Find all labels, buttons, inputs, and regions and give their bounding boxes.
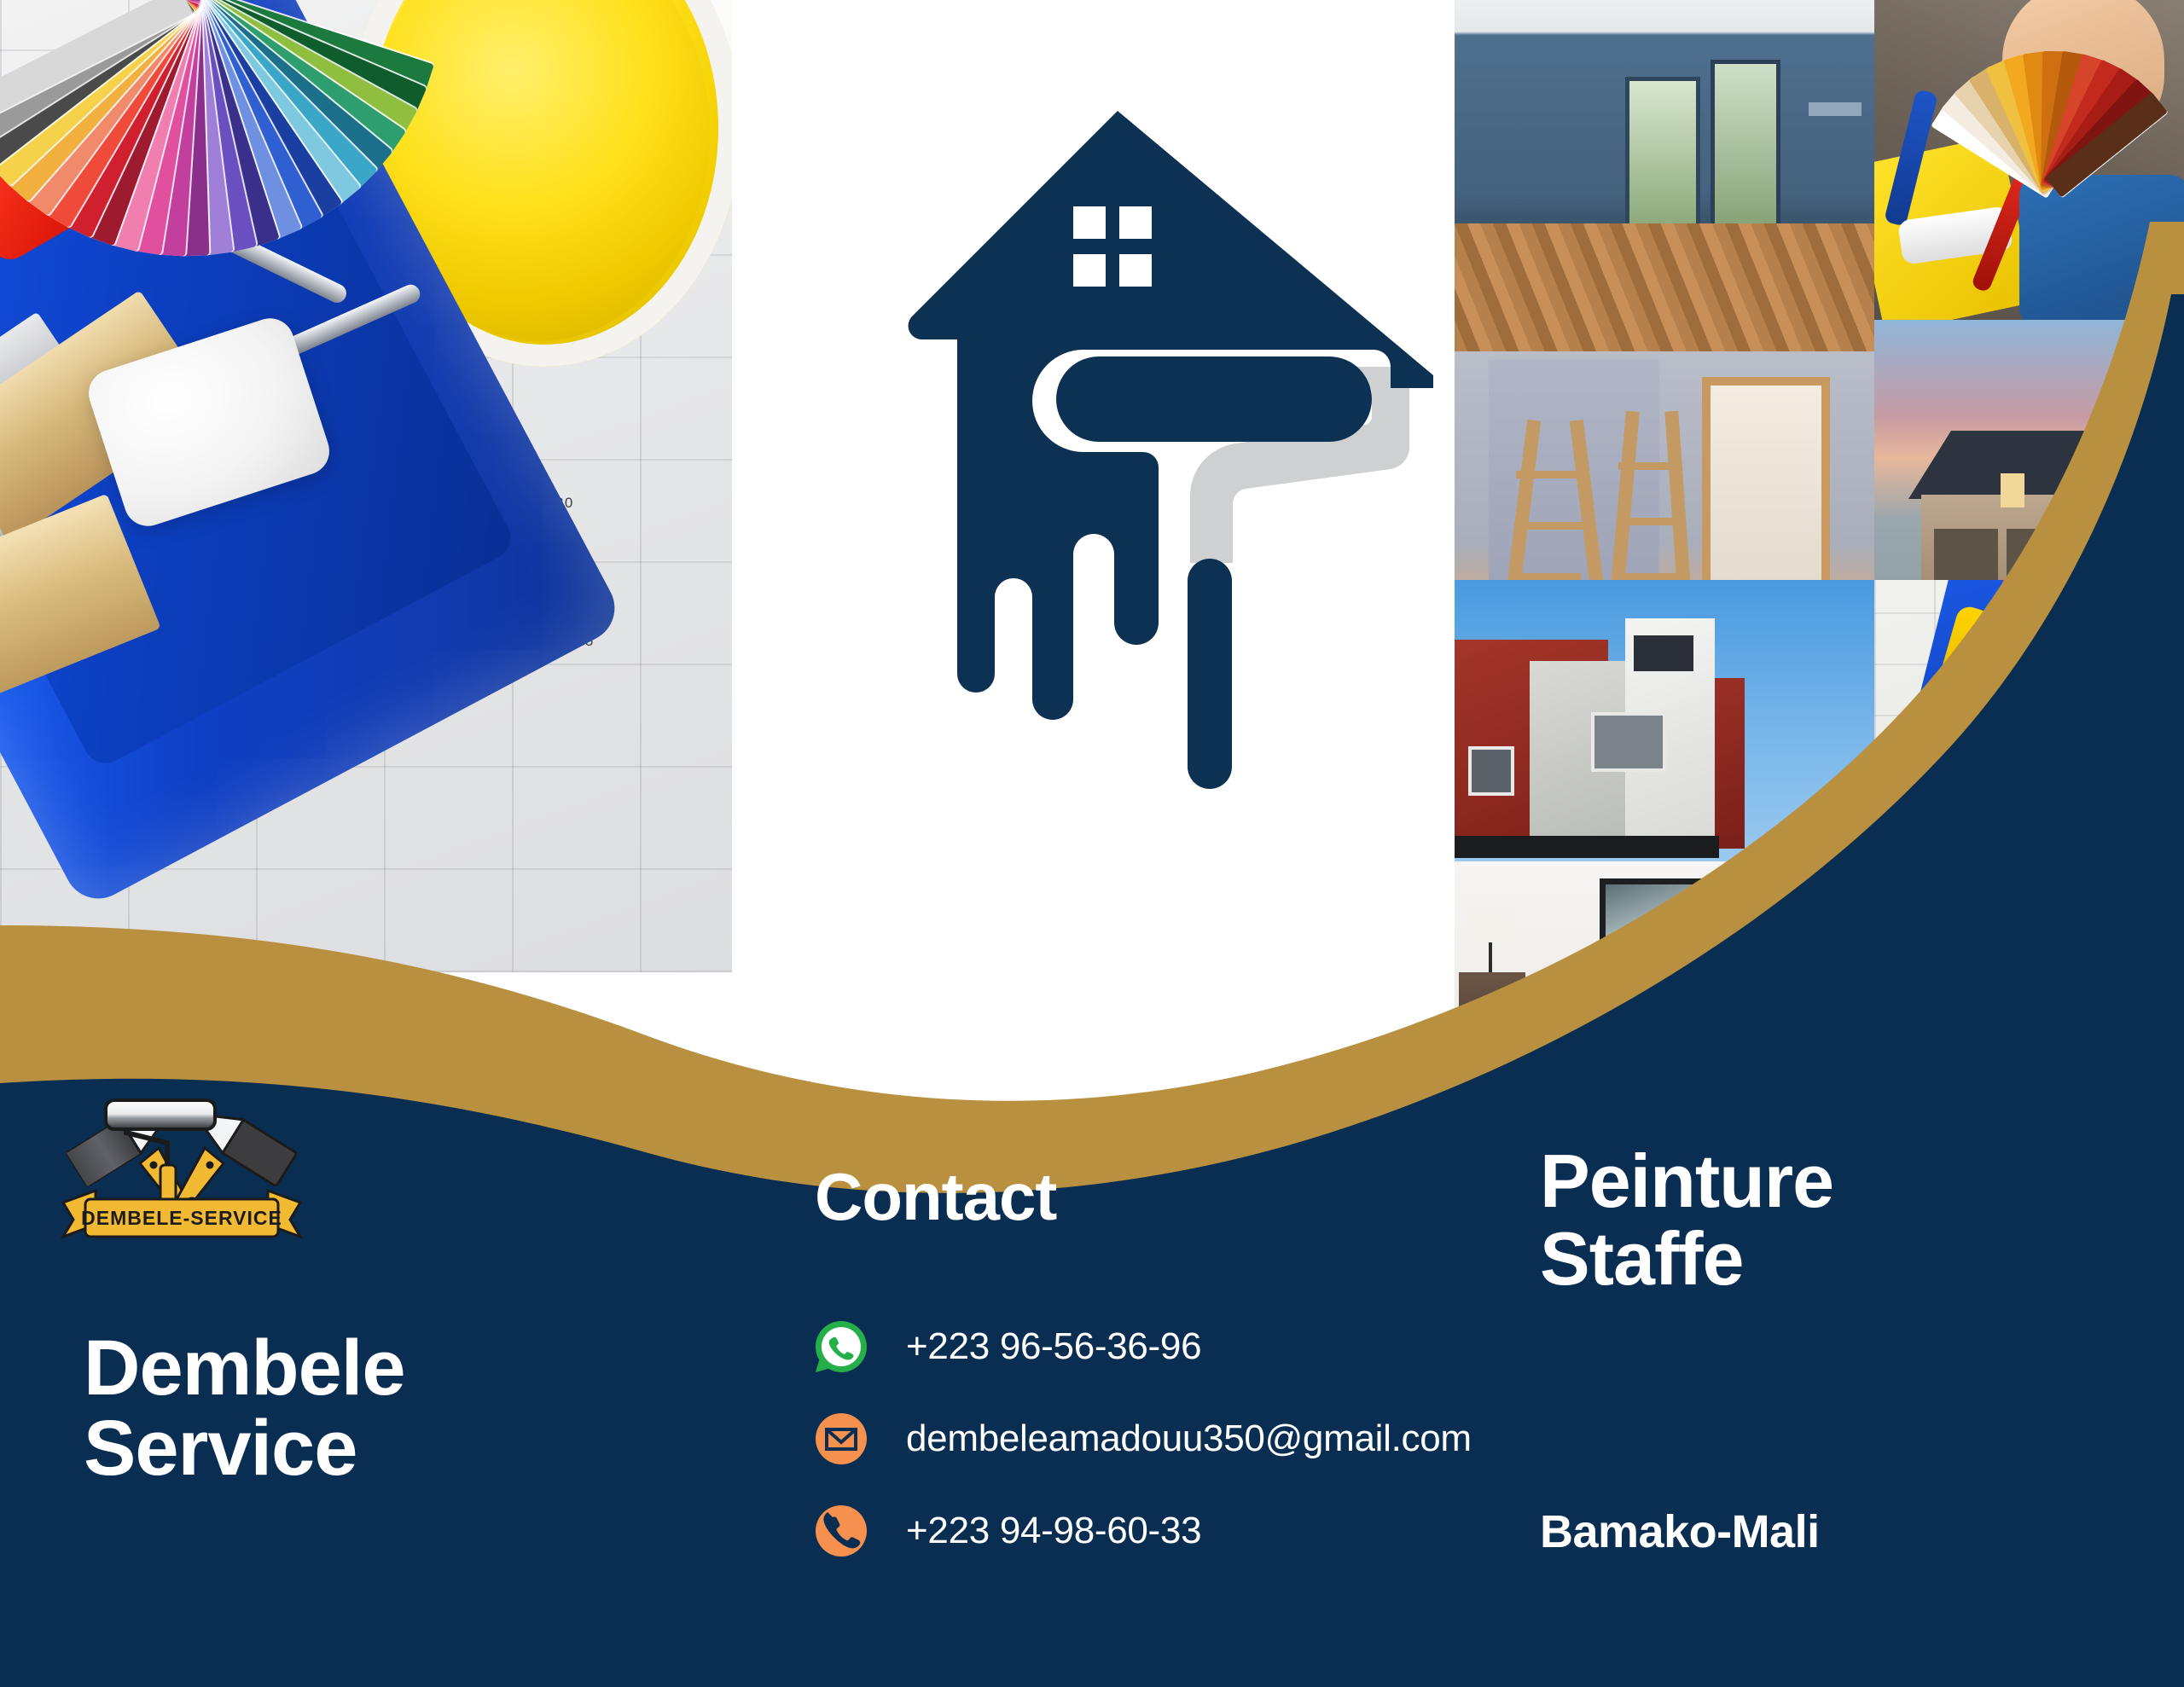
ladder-step	[1516, 471, 1584, 478]
contact-row-whatsapp[interactable]: +223 96-56-36-96	[810, 1301, 1442, 1393]
color-fan-deck	[1926, 34, 2181, 230]
company-name-line2: Service	[84, 1409, 630, 1489]
cabin-window	[1777, 1032, 1811, 1059]
photo-blue-room-herringbone-floor	[1455, 0, 1874, 351]
photo-red-cabin-roof	[1711, 942, 1907, 1066]
nightstand	[1459, 972, 1525, 1066]
table-lamp-shade	[1467, 908, 1514, 942]
tape-measure	[1883, 729, 1977, 823]
contact-row-phone[interactable]: +223 94-98-60-33	[810, 1485, 1442, 1577]
email-icon[interactable]	[810, 1408, 872, 1470]
room-window-1	[1625, 77, 1700, 243]
service-title-line2: Staffe	[1540, 1220, 2052, 1298]
framed-landscape-art	[1600, 878, 1727, 984]
whatsapp-icon[interactable]	[810, 1316, 872, 1377]
house-paint-roller-logo	[802, 111, 1433, 793]
top-photo-band: 1200 STOREROOM 300 260 620 530 415	[0, 0, 2184, 1066]
poster-canvas: 1200 STOREROOM 300 260 620 530 415	[0, 0, 2184, 1687]
phone-icon[interactable]	[810, 1500, 872, 1562]
herringbone-floor	[1455, 223, 1874, 351]
cabin-roof	[1719, 951, 1898, 1023]
bay-window	[1591, 712, 1666, 772]
service-location: Bamako-Mali	[1540, 1505, 1820, 1558]
contact-heading: Contact	[815, 1158, 1056, 1236]
contact-row-email[interactable]: dembeleamadouu350@gmail.com	[810, 1393, 1442, 1485]
ribbon-window	[1634, 635, 1693, 671]
company-name-line1: Dembele	[84, 1329, 630, 1409]
email-address: dembeleamadouu350@gmail.com	[906, 1417, 1472, 1460]
ladder2-step	[1618, 462, 1678, 470]
company-name: Dembele Service	[84, 1329, 630, 1489]
photo-paint-tools-on-blueprint	[1874, 580, 2184, 870]
ladder-step	[1514, 522, 1583, 530]
house-window-upper	[2001, 473, 2024, 507]
phone-number: +223 94-98-60-33	[906, 1510, 1201, 1552]
emblem-wordmark: DEMBELE-SERVICE	[81, 1207, 282, 1229]
service-title-line1: Peinture	[1540, 1143, 2052, 1220]
right-photo-collage	[1455, 0, 2184, 1066]
whatsapp-number: +223 96-56-36-96	[906, 1325, 1201, 1368]
house-window-lit	[2098, 533, 2132, 574]
ladder2-step	[1618, 518, 1677, 525]
left-photo-paint-supplies: 1200 STOREROOM 300 260 620 530 415	[0, 0, 732, 972]
photo-modern-red-grey-house	[1455, 580, 1874, 874]
color-swatch-fan	[0, 0, 367, 478]
contact-list: +223 96-56-36-96 dembeleamadouu350@gmail…	[810, 1301, 1442, 1577]
photo-hand-holding-color-fan	[1874, 0, 2184, 320]
house-roof	[1908, 431, 2184, 499]
dembele-service-emblem: DEMBELE-SERVICE	[58, 1092, 305, 1258]
wall-socket	[1809, 102, 1862, 116]
dark-base-band	[1455, 836, 1719, 858]
service-title: Peinture Staffe	[1540, 1143, 2052, 1297]
side-window	[1468, 746, 1514, 796]
pillow-left	[1536, 994, 1647, 1032]
